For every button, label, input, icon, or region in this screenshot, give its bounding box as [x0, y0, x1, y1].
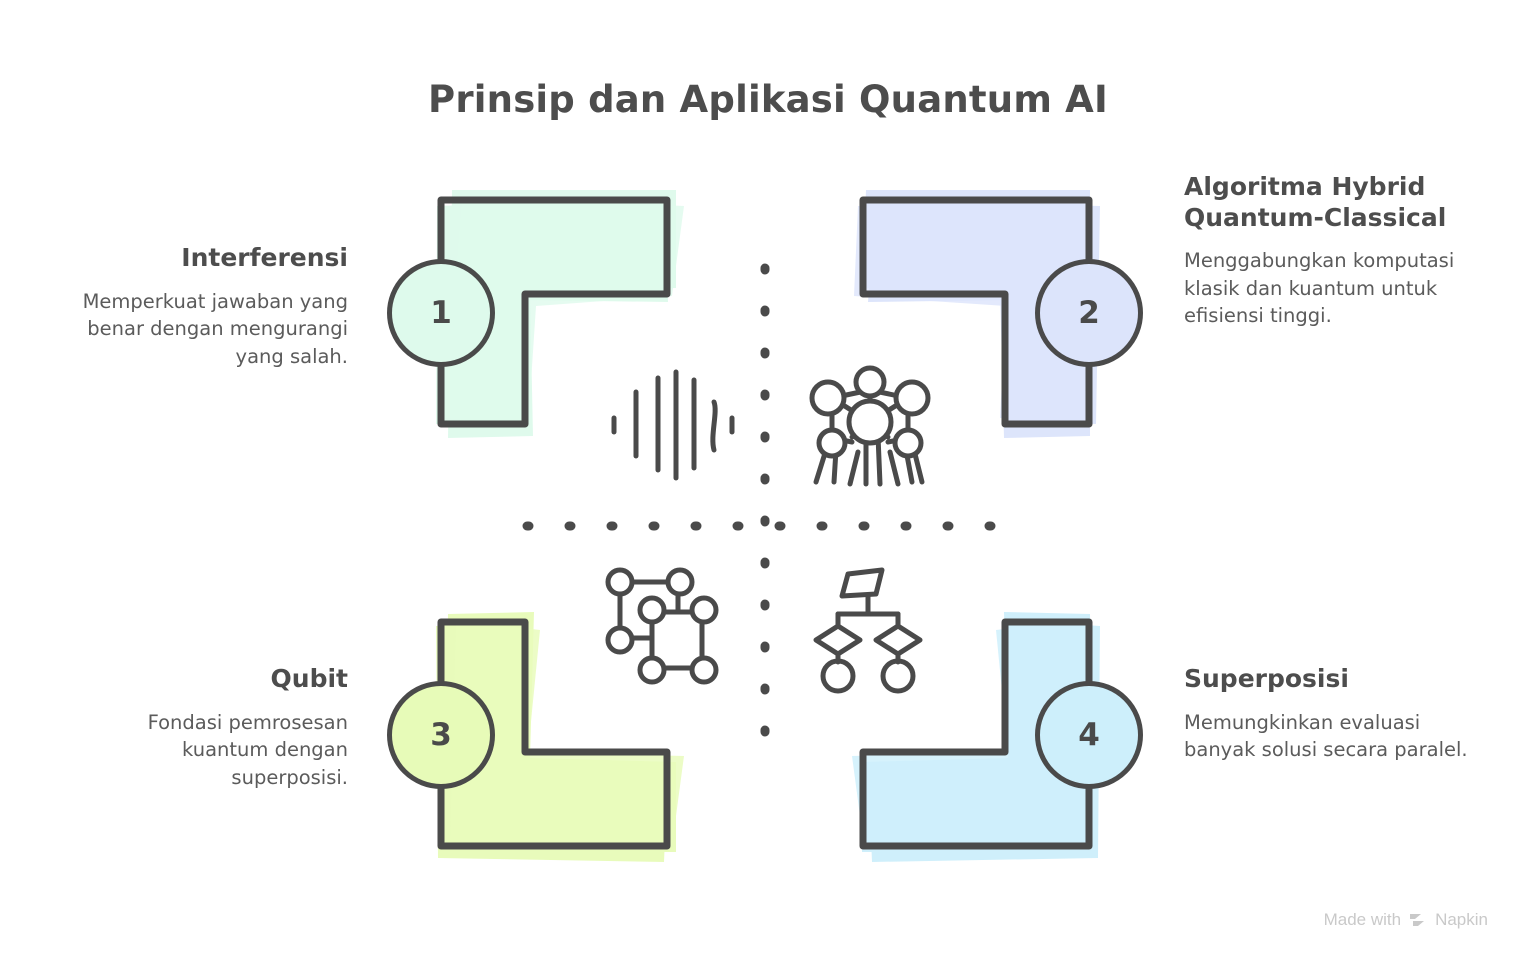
quadrant-body-1: Memperkuat jawaban yang benar dengan men… — [78, 288, 348, 371]
quadrant-text-4: Superposisi Memungkinkan evaluasi banyak… — [1184, 664, 1474, 764]
quadrant-text-2: Algoritma Hybrid Quantum-Classical Mengg… — [1184, 172, 1474, 330]
quadrant-number-3[interactable]: 3 — [387, 681, 495, 789]
quadrant-number-4[interactable]: 4 — [1035, 681, 1143, 789]
quadrant-heading-2: Algoritma Hybrid Quantum-Classical — [1184, 172, 1474, 233]
diagram-layer — [0, 0, 1536, 960]
molecule-icon — [812, 368, 928, 484]
quadrant-heading-4: Superposisi — [1184, 664, 1474, 695]
waveform-icon — [614, 372, 732, 478]
quadrant-text-3: Qubit Fondasi pemrosesan kuantum dengan … — [78, 664, 348, 792]
quadrant-heading-1: Interferensi — [78, 243, 348, 274]
quadrant-body-4: Memungkinkan evaluasi banyak solusi seca… — [1184, 709, 1474, 764]
quadrant-number-1[interactable]: 1 — [387, 259, 495, 367]
made-with-napkin-badge[interactable]: Made with Napkin — [1324, 910, 1488, 930]
quadrant-text-1: Interferensi Memperkuat jawaban yang ben… — [78, 243, 348, 371]
made-with-label: Made with — [1324, 910, 1401, 930]
infographic-canvas: Prinsip dan Aplikasi Quantum AI — [0, 0, 1536, 960]
quadrant-body-3: Fondasi pemrosesan kuantum dengan superp… — [78, 709, 348, 792]
quadrant-heading-3: Qubit — [78, 664, 348, 695]
napkin-brand-label: Napkin — [1435, 910, 1488, 930]
flowchart-branch-icon — [816, 570, 920, 691]
quadrant-body-2: Menggabungkan komputasi klasik dan kuant… — [1184, 247, 1474, 330]
cube-network-icon — [608, 570, 716, 682]
quadrant-number-2[interactable]: 2 — [1035, 259, 1143, 367]
napkin-chevron-logo — [1408, 911, 1428, 929]
